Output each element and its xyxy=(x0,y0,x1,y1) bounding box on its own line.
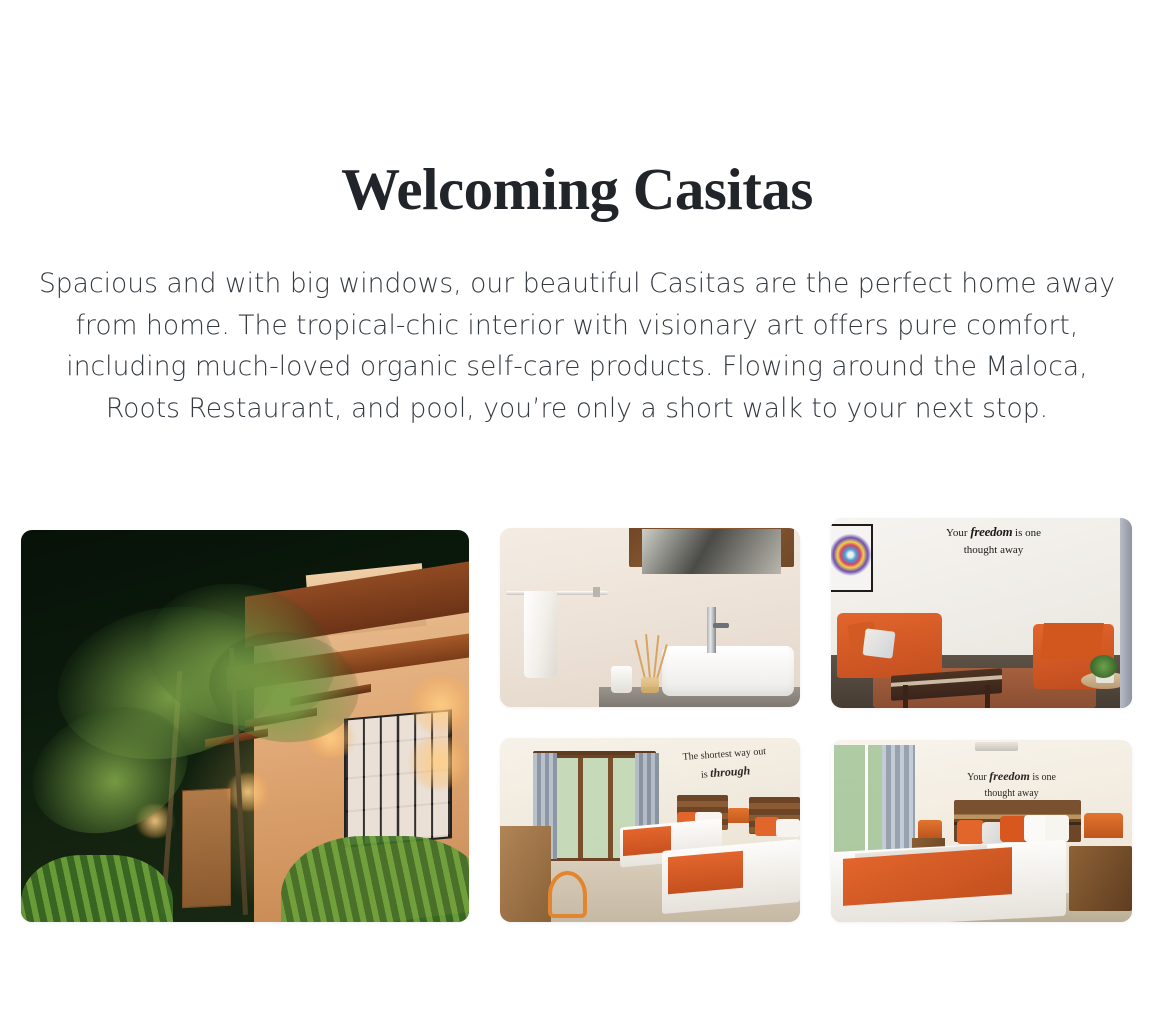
sofa-cushion xyxy=(863,628,896,658)
mirror-glass xyxy=(642,529,781,574)
bed-runner xyxy=(668,851,743,894)
wall-quote-line-2-prefix: is xyxy=(701,769,708,780)
wooden-mirror-frame xyxy=(629,528,794,567)
wall-quote-line-1-suffix: is one xyxy=(1015,527,1041,539)
wall-quote-text: Your freedom is one thought away xyxy=(909,522,1078,559)
pillow xyxy=(776,819,800,837)
wall-quote-script-word: freedom xyxy=(970,524,1012,539)
wall-quote-line-1-prefix: Your xyxy=(967,772,987,783)
gallery-image-casita-exterior-night[interactable] xyxy=(21,530,469,922)
gallery-image-casita-bathroom[interactable] xyxy=(500,528,800,707)
wall-light-glow xyxy=(406,734,469,790)
towel-bar-bracket xyxy=(593,587,600,597)
gallery-column-right: Your freedom is one thought away xyxy=(831,518,1132,922)
gallery-image-casita-king-bedroom[interactable]: Your freedom is one thought away xyxy=(831,740,1132,922)
gallery-column-left xyxy=(21,518,469,922)
wall-quote-line-1-prefix: Your xyxy=(946,527,968,539)
section-header: Welcoming Casitas Spacious and with big … xyxy=(0,0,1154,429)
door-edge xyxy=(1120,518,1132,708)
reed-diffuser-bottle xyxy=(641,677,659,693)
folded-napkin xyxy=(611,666,632,693)
vessel-sink xyxy=(662,646,794,696)
wall-quote-script-word: freedom xyxy=(989,769,1030,783)
mandala-artwork xyxy=(831,524,873,592)
bathroom-photo xyxy=(500,528,800,707)
section-description: Spacious and with big windows, our beaut… xyxy=(33,263,1121,429)
bedside-lamp xyxy=(918,820,942,838)
pillow xyxy=(1000,816,1027,841)
image-gallery: The shortest way out is through xyxy=(21,518,1133,922)
page-title: Welcoming Casitas xyxy=(0,160,1154,219)
wooden-dresser xyxy=(500,826,551,922)
bedside-lamp xyxy=(1084,813,1123,838)
exterior-night-photo xyxy=(21,530,469,922)
wall-quote-line-2: thought away xyxy=(985,788,1039,799)
table-leg xyxy=(985,685,990,708)
wall-quote-text: Your freedom is one thought away xyxy=(957,767,1065,802)
orange-chair xyxy=(548,871,587,919)
twin-bedroom-photo: The shortest way out is through xyxy=(500,738,800,922)
nightstand xyxy=(1069,846,1132,912)
wall-quote-line-1-suffix: is one xyxy=(1032,772,1056,783)
bedside-lamp xyxy=(728,808,749,823)
pillow xyxy=(1045,815,1069,842)
sink-faucet xyxy=(707,607,716,654)
wall-light-glow xyxy=(223,773,273,811)
gallery-image-casita-living-room[interactable]: Your freedom is one thought away xyxy=(831,518,1132,708)
gallery-column-middle: The shortest way out is through xyxy=(500,518,800,922)
wall-light-glow xyxy=(406,675,469,735)
garden-shrubs xyxy=(21,855,173,922)
armchair-backrest xyxy=(1040,623,1104,659)
wall-quote-line-2: thought away xyxy=(964,544,1024,556)
pillow xyxy=(957,820,984,844)
potted-plant xyxy=(1090,655,1117,678)
faucet-handle xyxy=(713,623,729,628)
king-bedroom-photo: Your freedom is one thought away xyxy=(831,740,1132,922)
ceiling-vent xyxy=(975,742,1017,751)
table-leg xyxy=(903,685,908,708)
white-towel xyxy=(524,591,557,679)
living-room-photo: Your freedom is one thought away xyxy=(831,518,1132,708)
casitas-section: Welcoming Casitas Spacious and with big … xyxy=(0,0,1154,1013)
gallery-image-casita-twin-bedroom[interactable]: The shortest way out is through xyxy=(500,738,800,922)
front-door xyxy=(182,787,231,907)
wall-quote-script-word: through xyxy=(710,763,751,780)
